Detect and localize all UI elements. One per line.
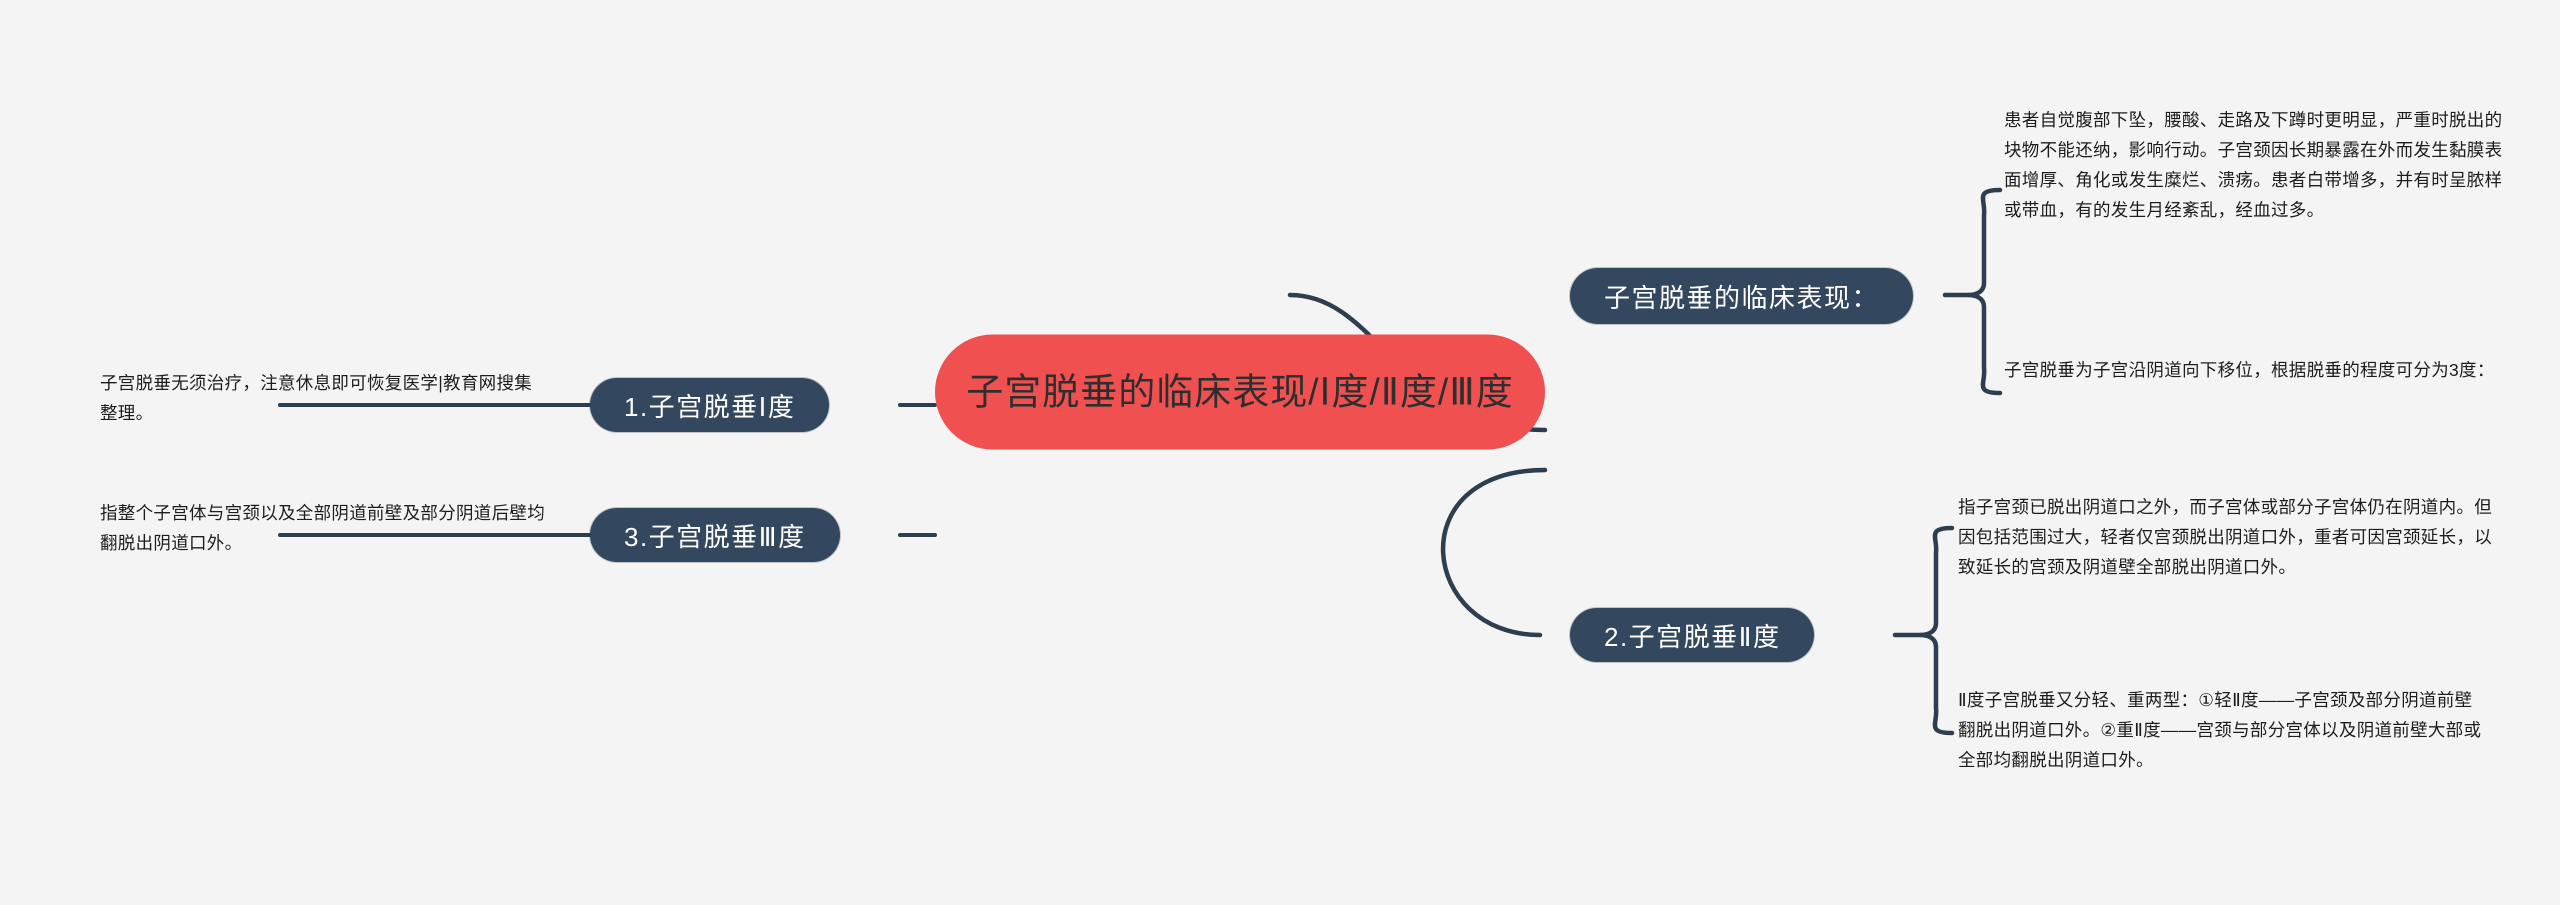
branch-node-degree-two-label: 2.子宫脱垂Ⅱ度	[1604, 617, 1780, 654]
leaf-prolapse-definition: 子宫脱垂为子宫沿阴道向下移位，根据脱垂的程度可分为3度：	[2004, 355, 2502, 385]
leaf-manifestation-detail: 患者自觉腹部下坠，腰酸、走路及下蹲时更明显，严重时脱出的块物不能还纳，影响行动。…	[2004, 105, 2506, 225]
mindmap-canvas: 子宫脱垂的临床表现/Ⅰ度/Ⅱ度/Ⅲ度 子宫脱垂的临床表现： 1.子宫脱垂Ⅰ度 3…	[0, 0, 2560, 905]
root-node[interactable]: 子宫脱垂的临床表现/Ⅰ度/Ⅱ度/Ⅲ度	[935, 335, 1545, 450]
leaf-degree-one-detail: 子宫脱垂无须治疗，注意休息即可恢复医学|教育网搜集整理。	[100, 368, 540, 428]
leaf-degree-two-subtypes: Ⅱ度子宫脱垂又分轻、重两型：①轻Ⅱ度——子宫颈及部分阴道前壁翻脱出阴道口外。②重…	[1958, 685, 2486, 775]
branch-node-clinical-manifestation[interactable]: 子宫脱垂的临床表现：	[1570, 268, 1913, 324]
branch-node-degree-three[interactable]: 3.子宫脱垂Ⅲ度	[590, 508, 840, 562]
branch-node-degree-one-label: 1.子宫脱垂Ⅰ度	[624, 387, 795, 424]
branch-node-clinical-manifestation-label: 子宫脱垂的临床表现：	[1604, 278, 1879, 315]
brace-manifestation	[1968, 190, 2000, 393]
root-node-label: 子宫脱垂的临床表现/Ⅰ度/Ⅱ度/Ⅲ度	[966, 367, 1513, 417]
branch-node-degree-two[interactable]: 2.子宫脱垂Ⅱ度	[1570, 608, 1814, 662]
leaf-degree-two-detail: 指子宫颈已脱出阴道口之外，而子宫体或部分子宫体仍在阴道内。但因包括范围过大，轻者…	[1958, 492, 2498, 582]
branch-node-degree-one[interactable]: 1.子宫脱垂Ⅰ度	[590, 378, 829, 432]
branch-node-degree-three-label: 3.子宫脱垂Ⅲ度	[624, 517, 806, 554]
brace-degree-two	[1920, 528, 1952, 733]
leaf-degree-three-detail: 指整个子宫体与宫颈以及全部阴道前壁及部分阴道后壁均翻脱出阴道口外。	[100, 498, 550, 558]
link-root-to-degree-two	[1443, 470, 1545, 635]
